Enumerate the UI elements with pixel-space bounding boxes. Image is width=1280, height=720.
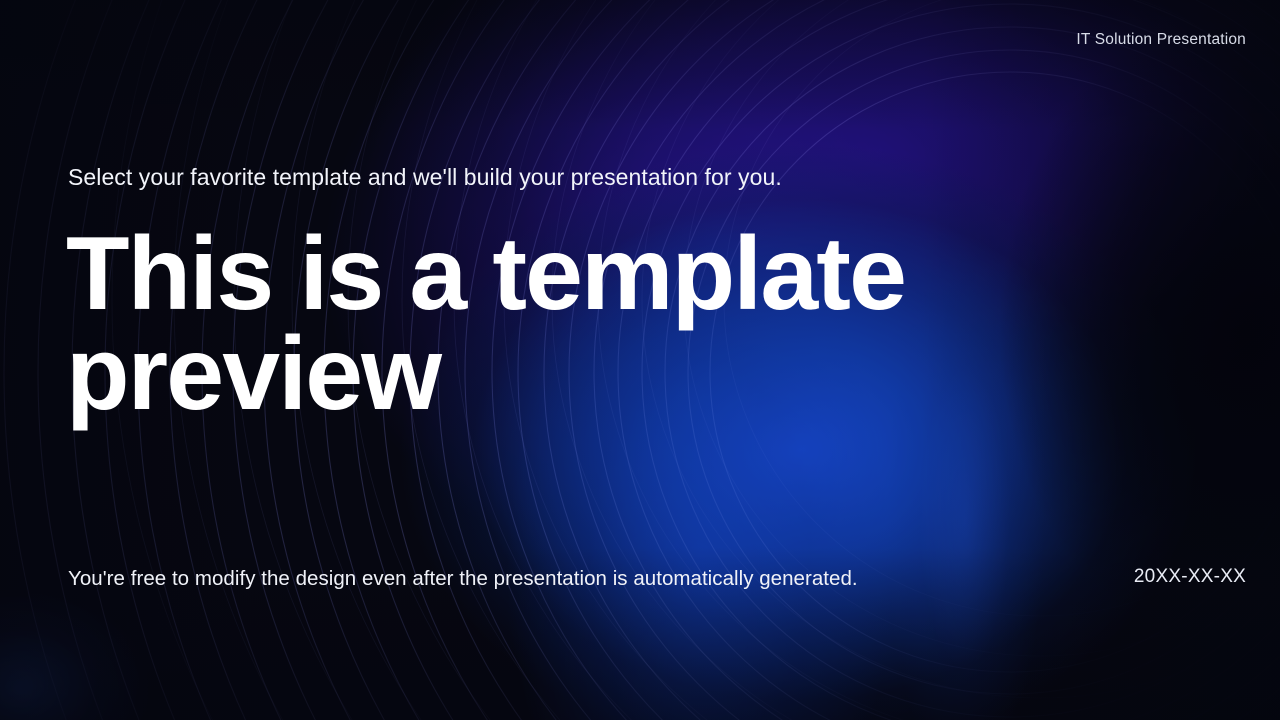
slide-date: 20XX-XX-XX (1134, 566, 1246, 588)
presentation-slide: IT Solution Presentation Select your fav… (0, 0, 1280, 720)
slide-footnote-text: You're free to modify the design even af… (68, 566, 858, 593)
slide-kicker-text: Select your favorite template and we'll … (68, 163, 782, 192)
presentation-label: IT Solution Presentation (1076, 31, 1246, 49)
page-title: This is a template preview (66, 224, 1026, 424)
slide-content: IT Solution Presentation Select your fav… (0, 0, 1280, 720)
page-title-line-1: This is a template (66, 224, 1026, 324)
page-title-line-2: preview (66, 324, 1026, 424)
